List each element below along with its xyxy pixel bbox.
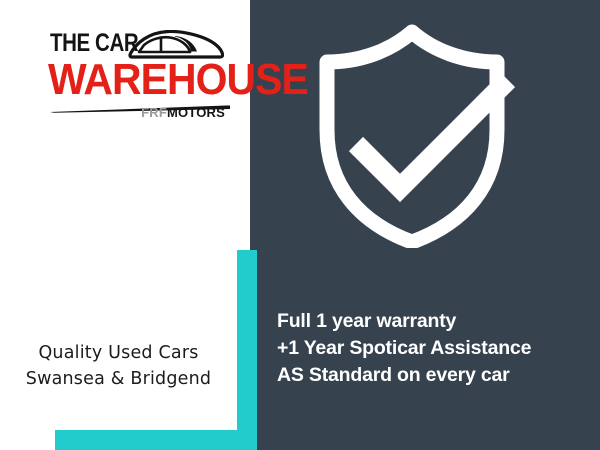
promo-line-1: Full 1 year warranty	[277, 308, 597, 335]
tagline: Quality Used Cars Swansea & Bridgend	[0, 340, 237, 392]
logo-sub-motors: MOTORS	[167, 105, 225, 120]
teal-accent-vertical	[237, 250, 257, 450]
teal-accent-horizontal	[55, 430, 255, 450]
logo-line-the-car: THE CAR	[50, 31, 138, 56]
shield-check-icon	[312, 18, 542, 248]
tagline-line-2: Swansea & Bridgend	[0, 366, 237, 392]
logo-subtitle: FRFMOTORS	[141, 105, 225, 120]
promo-headline: Full 1 year warranty +1 Year Spoticar As…	[277, 308, 597, 389]
tagline-line-1: Quality Used Cars	[0, 340, 237, 366]
promo-line-3: AS Standard on every car	[277, 362, 597, 389]
brand-logo: THE CAR WAREHOUSE FRFMOTORS	[50, 30, 225, 120]
logo-sub-frf: FRF	[141, 105, 167, 120]
logo-line-warehouse: WAREHOUSE	[48, 58, 308, 102]
promo-line-2: +1 Year Spoticar Assistance	[277, 335, 597, 362]
dealer-promo-banner: THE CAR WAREHOUSE FRFMOTORS Quality Used…	[0, 0, 600, 450]
